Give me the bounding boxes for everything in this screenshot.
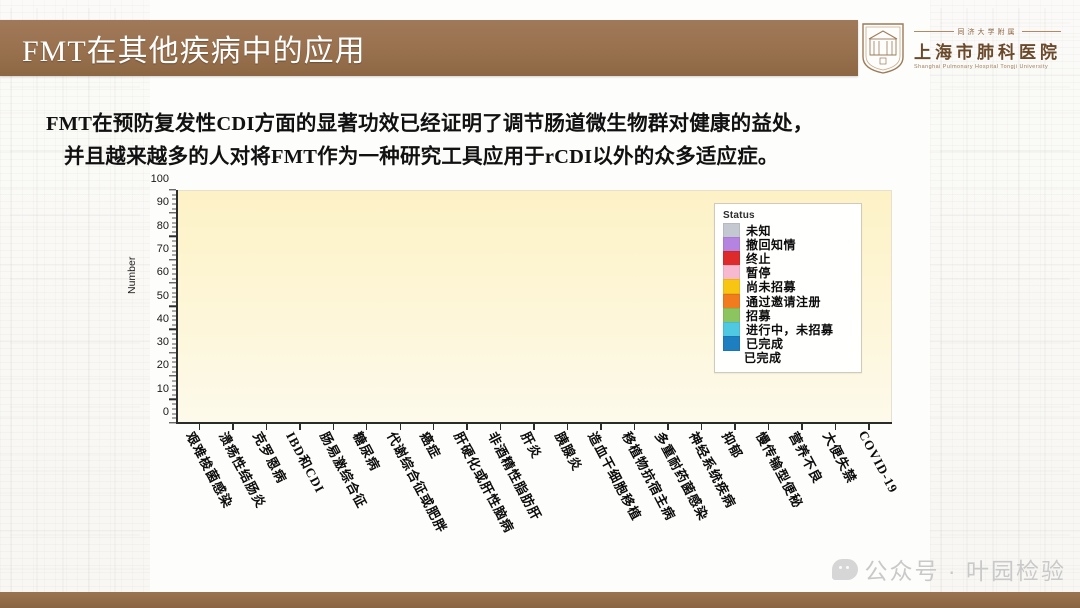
x-label-column: 克罗恩病	[249, 424, 283, 474]
y-axis-label: Number	[126, 257, 138, 294]
hospital-name-en: Shanghai Pulmonary Hospital Tongji Unive…	[914, 64, 1061, 70]
x-label-column: 抑郁	[719, 424, 753, 474]
y-tick-mark	[169, 259, 176, 260]
x-label-column: 胰腺炎	[551, 424, 585, 474]
bar-column[interactable]	[651, 191, 684, 424]
bar-column[interactable]	[617, 191, 650, 424]
legend-items: 未知撤回知情终止暂停尚未招募通过邀请注册招募进行中，未招募已完成	[723, 223, 853, 351]
bar-column[interactable]	[483, 191, 516, 424]
bar-column[interactable]	[684, 191, 717, 424]
y-tick-mark	[169, 329, 176, 330]
legend-item[interactable]: 终止	[723, 251, 853, 265]
legend-swatch	[723, 294, 740, 309]
y-tick-mark	[169, 422, 176, 423]
legend-swatch	[723, 223, 740, 238]
legend-item[interactable]: 已完成	[723, 337, 853, 351]
legend-swatch	[723, 251, 740, 266]
x-label-column: 大便失禁	[819, 424, 853, 474]
y-tick-mark	[169, 305, 176, 306]
bar-column[interactable]	[282, 191, 315, 424]
lead-line-2: 并且越来越多的人对将FMT作为一种研究工具应用于rCDI以外的众多适应症。	[46, 141, 1036, 174]
bar-column[interactable]	[349, 191, 382, 424]
legend-swatch	[723, 336, 740, 351]
x-axis-tick-label: 糖尿病	[350, 428, 387, 474]
bar-column[interactable]	[249, 191, 282, 424]
legend-label: 已完成	[746, 335, 784, 352]
legend-item[interactable]: 撤回知情	[723, 237, 853, 251]
x-label-column: 肝硬化或肝性脑病	[450, 424, 484, 474]
x-label-column: 艰难梭菌感染	[182, 424, 216, 474]
bar-column[interactable]	[215, 191, 248, 424]
legend-swatch	[723, 322, 740, 337]
page-title: FMT在其他疾病中的应用	[0, 26, 366, 70]
legend-swatch	[723, 308, 740, 323]
hospital-crest-icon	[860, 21, 906, 75]
x-label-column: 营养不良	[786, 424, 820, 474]
x-label-column: 癌症	[417, 424, 451, 474]
legend-swatch	[723, 265, 740, 280]
legend-item[interactable]: 通过邀请注册	[723, 294, 853, 308]
hospital-affiliation: 同济大学附属	[914, 27, 1061, 37]
hospital-name-cn: 上海市肺科医院	[914, 38, 1061, 63]
bar-column[interactable]	[584, 191, 617, 424]
x-label-column: 代谢综合征或肥胖	[383, 424, 417, 474]
chart-legend: Status 未知撤回知情终止暂停尚未招募通过邀请注册招募进行中，未招募已完成 …	[714, 203, 862, 373]
bar-column[interactable]	[182, 191, 215, 424]
y-tick-label: 60	[157, 266, 176, 278]
x-label-column: COVID-19	[853, 424, 887, 474]
x-label-column: 造血干细胞移植	[584, 424, 618, 474]
x-label-column: 非酒精性脂肪肝	[484, 424, 518, 474]
x-axis-tick-label: 癌症	[417, 428, 447, 462]
y-tick-label: 40	[157, 313, 176, 325]
bar-column[interactable]	[450, 191, 483, 424]
x-axis-tick-label: 肝炎	[517, 428, 547, 462]
x-axis-tick-label: 抑郁	[718, 428, 748, 462]
x-label-column: 肝炎	[517, 424, 551, 474]
y-tick-label: 20	[157, 359, 176, 371]
decorative-background-right	[930, 0, 1080, 608]
y-tick-mark	[169, 189, 176, 190]
watermark: 公众号 · 叶园检验	[832, 552, 1066, 586]
y-tick-mark	[169, 375, 176, 376]
bar-column[interactable]	[383, 191, 416, 424]
bar-column[interactable]	[416, 191, 449, 424]
x-axis-tick-label: 胰腺炎	[551, 428, 588, 474]
hospital-logo-text: 同济大学附属 上海市肺科医院 Shanghai Pulmonary Hospit…	[914, 27, 1061, 70]
x-label-column: 肠易激综合征	[316, 424, 350, 474]
y-tick-label: 80	[157, 220, 176, 232]
legend-title: Status	[723, 210, 853, 221]
y-tick-label: 10	[157, 383, 176, 395]
x-label-column: 糖尿病	[350, 424, 384, 474]
y-tick-mark	[169, 282, 176, 283]
x-axis-tick-label: COVID-19	[855, 428, 901, 496]
hospital-logo: 同济大学附属 上海市肺科医院 Shanghai Pulmonary Hospit…	[860, 18, 1072, 78]
legend-extra-label: 已完成	[723, 351, 853, 365]
slide-title-bar: FMT在其他疾病中的应用	[0, 20, 858, 76]
slide-canvas: FMT在其他疾病中的应用 同济大学附属 上海市肺科医院 Shanghai Pul…	[0, 0, 1080, 608]
legend-item[interactable]: 进行中，未招募	[723, 322, 853, 336]
x-label-column: IBD和CDI	[283, 424, 317, 474]
y-tick-label: 90	[157, 196, 176, 208]
y-tick-mark	[169, 212, 176, 213]
x-axis-labels: 艰难梭菌感染溃疡性结肠炎克罗恩病IBD和CDI肠易激综合征糖尿病代谢综合征或肥胖…	[176, 424, 892, 474]
footer-strip	[0, 592, 1080, 608]
legend-swatch	[723, 237, 740, 252]
bar-column[interactable]	[550, 191, 583, 424]
y-tick-label: 70	[157, 243, 176, 255]
y-axis-line	[176, 190, 178, 424]
x-label-column: 溃疡性结肠炎	[216, 424, 250, 474]
y-tick-mark	[169, 399, 176, 400]
y-tick-label: 0	[163, 406, 176, 418]
y-tick-mark	[169, 352, 176, 353]
bar-column[interactable]	[517, 191, 550, 424]
y-tick-label: 30	[157, 336, 176, 348]
legend-swatch	[723, 279, 740, 294]
x-label-column: 神经系统疾病	[685, 424, 719, 474]
y-tick-label: 100	[151, 173, 176, 185]
decorative-background-left	[0, 0, 150, 608]
lead-line-1: FMT在预防复发性CDI方面的显著功效已经证明了调节肠道微生物群对健康的益处，	[46, 113, 813, 135]
x-label-column: 移植物抗宿主病	[618, 424, 652, 474]
hospital-affiliation-text: 同济大学附属	[958, 27, 1018, 37]
bar-column[interactable]	[316, 191, 349, 424]
x-label-column: 慢传输型便秘	[752, 424, 786, 474]
watermark-text: 公众号 · 叶园检验	[865, 552, 1066, 586]
wechat-bubble-icon	[832, 559, 858, 580]
x-label-column: 多重耐药菌感染	[651, 424, 685, 474]
y-tick-label: 50	[157, 290, 176, 302]
lead-paragraph: FMT在预防复发性CDI方面的显著功效已经证明了调节肠道微生物群对健康的益处， …	[46, 108, 1036, 174]
y-tick-mark	[169, 236, 176, 237]
